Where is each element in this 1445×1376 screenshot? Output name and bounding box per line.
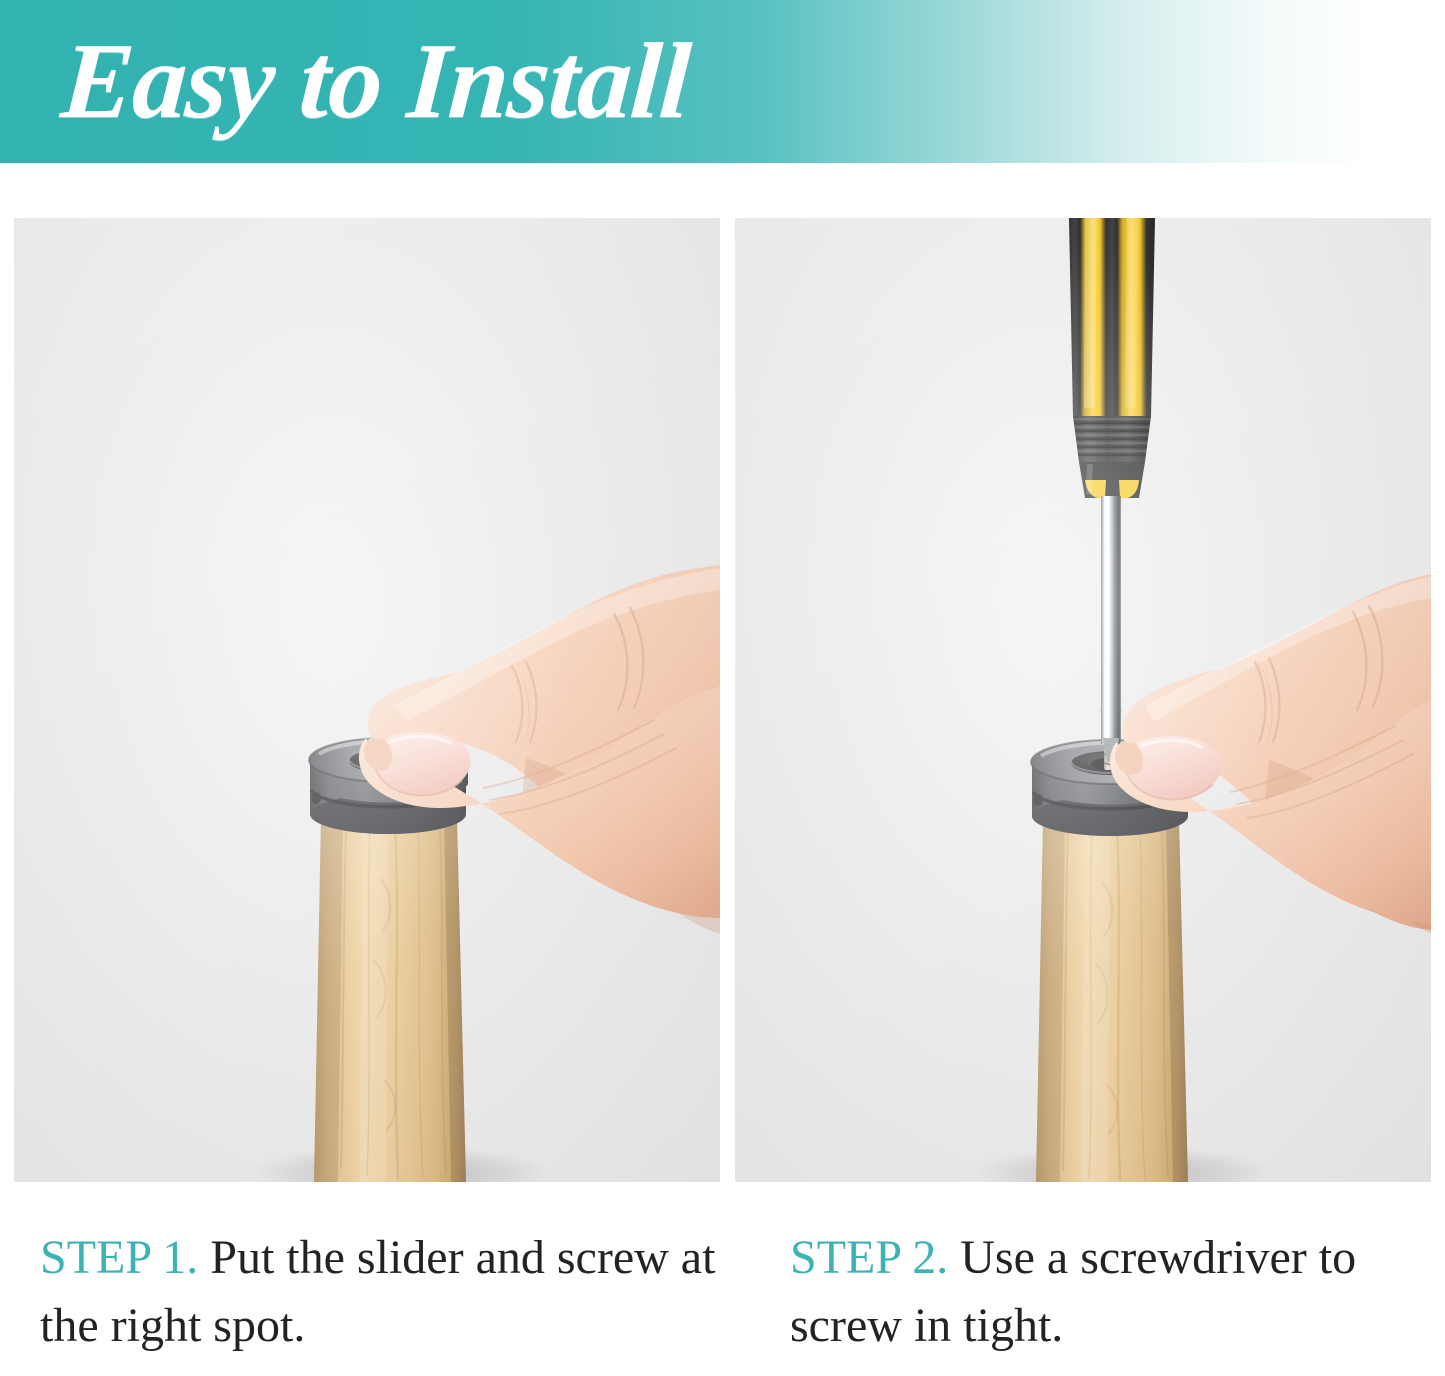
screwdriver-neck <box>1073 416 1151 462</box>
caption-row: STEP 1. Put the slider and screw at the … <box>0 1224 1445 1376</box>
step-1-label: STEP 1. <box>40 1231 198 1284</box>
banner-title: Easy to Install <box>58 18 694 145</box>
step-2-photo <box>735 218 1431 1182</box>
screwdriver-handle <box>1069 218 1155 416</box>
step-1-caption: STEP 1. Put the slider and screw at the … <box>40 1224 720 1360</box>
step-1-illustration <box>14 218 720 1182</box>
wood-furniture-leg <box>1036 807 1188 1182</box>
screwdriver <box>1069 218 1155 762</box>
step-1-photo <box>14 218 720 1182</box>
step-2-illustration <box>735 218 1431 1182</box>
step-2-label: STEP 2. <box>790 1231 948 1284</box>
instruction-photo-row <box>0 218 1445 1182</box>
wood-furniture-leg <box>314 805 466 1182</box>
header-banner: Easy to Install <box>0 0 1445 163</box>
step-2-caption: STEP 2. Use a screwdriver to screw in ti… <box>790 1224 1440 1360</box>
screwdriver-ferrule <box>1079 462 1145 498</box>
